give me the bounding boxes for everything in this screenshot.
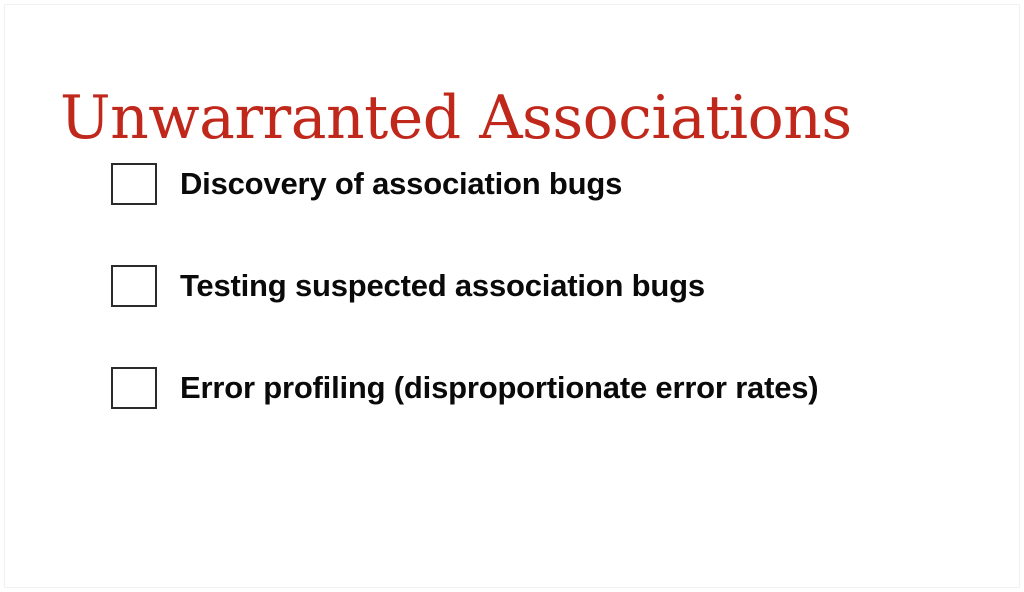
- list-item-label: Discovery of association bugs: [180, 167, 622, 201]
- list-item[interactable]: Discovery of association bugs: [111, 160, 971, 208]
- empty-checkbox-icon[interactable]: [111, 163, 157, 205]
- list-item-label: Error profiling (disproportionate error …: [180, 371, 818, 405]
- list-item-label: Testing suspected association bugs: [180, 269, 705, 303]
- list-item[interactable]: Testing suspected association bugs: [111, 262, 971, 310]
- checklist: Discovery of association bugs Testing su…: [111, 160, 971, 412]
- page-title: Unwarranted Associations: [60, 88, 960, 148]
- empty-checkbox-icon[interactable]: [111, 367, 157, 409]
- presentation-slide: Unwarranted Associations Discovery of as…: [0, 0, 1024, 592]
- empty-checkbox-icon[interactable]: [111, 265, 157, 307]
- list-item[interactable]: Error profiling (disproportionate error …: [111, 364, 971, 412]
